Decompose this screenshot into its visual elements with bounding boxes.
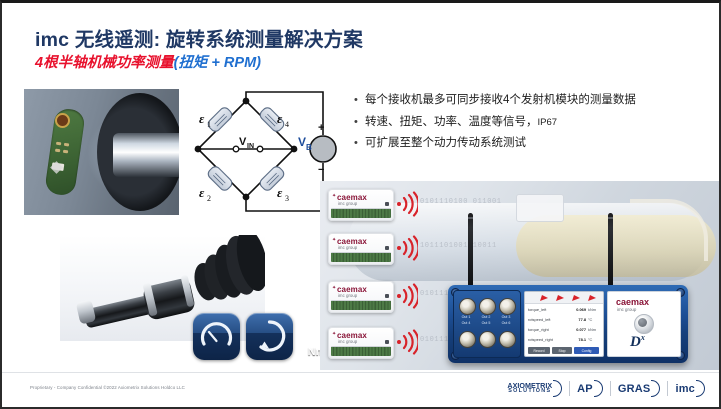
brand-star-icon: ✦ xyxy=(332,331,336,337)
svg-text:V: V xyxy=(239,136,247,148)
svg-text:B: B xyxy=(306,143,312,152)
module-indicator xyxy=(385,294,389,298)
channel-unit: kNm xyxy=(588,327,600,332)
measurement-display-screen[interactable]: torque_left 0.069 kNm rotspeed_left 77.8… xyxy=(524,291,604,357)
channel-value: 77.8 xyxy=(578,317,586,322)
svg-text:ε: ε xyxy=(199,111,205,126)
logo-divider xyxy=(569,381,570,396)
channel-value: 78.1 xyxy=(578,337,586,342)
bullet-text: 每个接收机最多可同步接收4个发射机模块的测量数据 xyxy=(365,93,716,108)
swoosh-icon xyxy=(553,380,562,397)
rpm-gauge-tile: rpm xyxy=(193,313,240,360)
svg-text:ε: ε xyxy=(277,185,283,200)
wireless-signal-icon xyxy=(396,191,418,217)
rotary-knob-cap[interactable] xyxy=(638,318,647,327)
telemetry-system-photo: ✦ caemax imc group 0101110100 011001 ✦ c… xyxy=(320,181,721,370)
channel-unit: kNm xyxy=(588,307,600,312)
svg-text:3: 3 xyxy=(285,194,289,203)
background-cable xyxy=(630,199,708,261)
swoosh-icon xyxy=(696,380,705,397)
wireless-signal-icon xyxy=(396,235,418,261)
svg-text:4: 4 xyxy=(285,120,289,129)
measurement-row: torque_right 0.077 kNm xyxy=(528,325,600,334)
trend-arrow-icon xyxy=(588,295,597,301)
channel-name: torque_left xyxy=(528,307,576,312)
receiver-device: Out 1 Out 2 Out 3 Out 4 Out 5 Out 6 xyxy=(448,285,688,363)
trend-arrow-icon xyxy=(540,295,549,301)
bnc-connector-out3[interactable] xyxy=(499,298,516,315)
bnc-connector-out5[interactable] xyxy=(479,331,496,348)
transmitter-module: ✦ caemax imc group xyxy=(328,233,394,265)
axiometrix-logo: AXIOMETRIX SOLUTIONS xyxy=(507,380,562,397)
module-brand-sub: imc group xyxy=(338,201,357,206)
trend-arrow-icon xyxy=(556,295,565,301)
partner-logos: AXIOMETRIX SOLUTIONS AP GRAS imc xyxy=(507,380,705,397)
channel-unit: °C xyxy=(588,317,600,322)
brand-star-icon: ✦ xyxy=(332,237,336,243)
subtitle-red-part: 4根半轴机械功率测量 xyxy=(35,55,174,71)
channel-value: 0.069 xyxy=(576,307,586,312)
logo-divider xyxy=(610,381,611,396)
bnc-connector-out1[interactable] xyxy=(459,298,476,315)
model-superscript: x xyxy=(641,333,645,342)
wireless-signal-icon xyxy=(396,283,418,309)
receiver-brand: caemax xyxy=(616,297,649,307)
svg-text:2: 2 xyxy=(207,194,211,203)
imc-logo-text: imc xyxy=(675,383,695,395)
bullet-text-suffix: IP67 xyxy=(538,117,558,128)
receiver-brand-panel: caemax imc group Dx xyxy=(607,291,681,357)
sensor-coil-ring xyxy=(55,113,70,128)
shaft-sensor-photo xyxy=(24,89,179,215)
measurement-row: rotspeed_right 78.1 °C xyxy=(528,335,600,344)
svg-text:V: V xyxy=(298,135,306,149)
swoosh-icon xyxy=(594,380,603,397)
screen-header-bar xyxy=(525,292,603,304)
logo-divider xyxy=(667,381,668,396)
connector-label: Out 3 xyxy=(498,315,514,319)
bnc-connector-out4[interactable] xyxy=(459,331,476,348)
ap-logo-text: AP xyxy=(577,383,593,395)
connector-label: Out 1 xyxy=(458,315,474,319)
screen-record-button[interactable]: Record xyxy=(528,347,550,354)
module-indicator xyxy=(385,246,389,250)
channel-name: torque_right xyxy=(528,327,576,332)
module-brand-sub: imc group xyxy=(338,293,357,298)
module-terminal-strip xyxy=(331,208,391,218)
svg-text:1: 1 xyxy=(207,120,211,129)
svg-text:ε: ε xyxy=(277,111,283,126)
trend-arrow-icon xyxy=(572,295,581,301)
svg-text:ε: ε xyxy=(199,185,205,200)
nm-torque-tile: Nm xyxy=(246,313,293,360)
connector-label: Out 5 xyxy=(478,321,494,325)
module-terminal-strip xyxy=(331,300,391,310)
shaft-metal-bar xyxy=(113,133,179,177)
page-subtitle: 4根半轴机械功率测量(扭矩 + RPM) xyxy=(35,51,261,72)
connector-label: Out 6 xyxy=(498,321,514,325)
model-letter: D xyxy=(630,334,641,350)
transmitter-module: ✦ caemax imc group xyxy=(328,189,394,221)
binary-data-stream: 1011101001 10011 xyxy=(420,242,497,250)
svg-text:−: − xyxy=(318,164,324,176)
module-brand-sub: imc group xyxy=(338,245,357,250)
brand-star-icon: ✦ xyxy=(332,285,336,291)
channel-name: rotspeed_left xyxy=(528,317,578,322)
background-sensor-module xyxy=(516,194,564,222)
screen-stop-button[interactable]: Stop xyxy=(552,347,572,354)
gras-logo: GRAS xyxy=(618,380,661,397)
brand-star-icon: ✦ xyxy=(332,193,336,199)
channel-unit: °C xyxy=(588,337,600,342)
bullet-text-main: 转速、扭矩、功率、温度等信号， xyxy=(365,116,538,128)
module-brand-sub: imc group xyxy=(338,339,357,344)
slide-footer: Proprietary - Company Confidential ©2022… xyxy=(2,372,719,407)
bnc-connector-out2[interactable] xyxy=(479,298,496,315)
list-item: • 可扩展至整个动力传动系统测试 xyxy=(354,136,716,151)
module-indicator xyxy=(385,340,389,344)
receiver-model-logo: Dx xyxy=(630,333,645,351)
module-terminal-strip xyxy=(331,346,391,356)
presentation-slide: imc 无线遥测: 旋转系统测量解决方案 4根半轴机械功率测量(扭矩 + RPM… xyxy=(0,0,721,409)
transmitter-module: ✦ caemax imc group xyxy=(328,327,394,359)
svg-text:+: + xyxy=(318,122,324,134)
page-title: imc 无线遥测: 旋转系统测量解决方案 xyxy=(35,23,363,52)
measurement-row: torque_left 0.069 kNm xyxy=(528,305,600,314)
gras-logo-text: GRAS xyxy=(618,383,651,395)
module-terminal-strip xyxy=(331,252,391,262)
bullet-marker: • xyxy=(354,93,365,108)
connector-label: Out 4 xyxy=(458,321,474,325)
wireless-signal-icon xyxy=(396,329,418,355)
channel-name: rotspeed_right xyxy=(528,337,578,342)
axiometrix-logo-line2: SOLUTIONS xyxy=(507,389,552,394)
output-connector-panel: Out 1 Out 2 Out 3 Out 4 Out 5 Out 6 xyxy=(453,290,521,358)
list-item: • 转速、扭矩、功率、温度等信号，IP67 xyxy=(354,115,716,130)
bnc-connector-out6[interactable] xyxy=(499,331,516,348)
antenna-left xyxy=(468,213,473,287)
bullet-marker: • xyxy=(354,136,365,151)
receiver-brand-sub: imc group xyxy=(617,307,636,312)
screen-config-button[interactable]: Config xyxy=(574,347,599,354)
transmitter-module: ✦ caemax imc group xyxy=(328,281,394,313)
binary-data-stream: 0101110100 011001 xyxy=(420,198,502,206)
module-indicator xyxy=(385,202,389,206)
bullet-text: 可扩展至整个动力传动系统测试 xyxy=(365,136,716,151)
subtitle-blue-part: (扭矩 + RPM) xyxy=(174,55,261,71)
bullet-list: • 每个接收机最多可同步接收4个发射机模块的测量数据 • 转速、扭矩、功率、温度… xyxy=(354,93,716,158)
svg-text:IN: IN xyxy=(247,143,254,150)
copyright-text: Proprietary - Company Confidential ©2022… xyxy=(30,385,185,390)
imc-logo: imc xyxy=(675,380,705,397)
connector-label: Out 2 xyxy=(478,315,494,319)
measurement-row: rotspeed_left 77.8 °C xyxy=(528,315,600,324)
antenna-right xyxy=(608,213,613,287)
bullet-text: 转速、扭矩、功率、温度等信号，IP67 xyxy=(365,115,716,130)
ap-logo: AP xyxy=(577,380,603,397)
channel-value: 0.077 xyxy=(576,327,586,332)
swoosh-icon xyxy=(651,380,660,397)
list-item: • 每个接收机最多可同步接收4个发射机模块的测量数据 xyxy=(354,93,716,108)
bullet-marker: • xyxy=(354,115,365,130)
